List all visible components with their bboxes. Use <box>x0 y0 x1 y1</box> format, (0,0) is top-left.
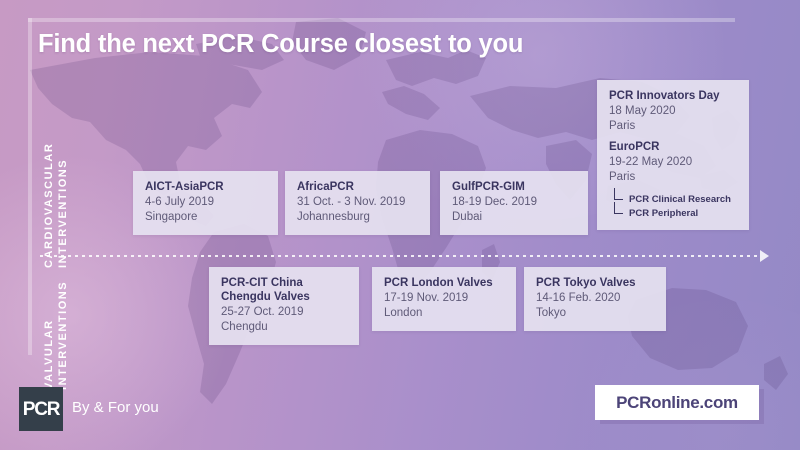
event-city: Johannesburg <box>297 210 418 225</box>
event-name: PCR London Valves <box>384 276 504 290</box>
category-label-line2: INTERVENTIONS <box>56 143 70 268</box>
event-card-paris-group[interactable]: PCR Innovators Day 18 May 2020 Paris Eur… <box>597 80 749 230</box>
event-city: Paris <box>609 170 737 185</box>
frame-left-border <box>28 18 32 355</box>
event-city: Dubai <box>452 210 576 225</box>
event-city: Tokyo <box>536 306 654 321</box>
event-card-pcr-cit-china-chengdu-valves[interactable]: PCR-CIT China Chengdu Valves 25-27 Oct. … <box>209 267 359 345</box>
event-name: GulfPCR-GIM <box>452 180 576 194</box>
event-city: Singapore <box>145 210 266 225</box>
category-label-line1: CARDIOVASCULAR <box>43 143 55 268</box>
event-name-line2: Chengdu Valves <box>221 290 347 304</box>
poster-canvas: Find the next PCR Course closest to you … <box>0 0 800 450</box>
axis-divider-dotted-line <box>40 255 760 257</box>
url-badge[interactable]: PCRonline.com <box>595 385 759 420</box>
event-card-africapcr[interactable]: AfricaPCR 31 Oct. - 3 Nov. 2019 Johannes… <box>285 171 430 235</box>
event-name: EuroPCR <box>609 140 737 154</box>
event-name: AICT-AsiaPCR <box>145 180 266 194</box>
category-label-line1: VALVULAR <box>43 319 55 390</box>
event-city: London <box>384 306 504 321</box>
event-date: 31 Oct. - 3 Nov. 2019 <box>297 195 418 210</box>
event-date: 25-27 Oct. 2019 <box>221 305 347 320</box>
event-name: AfricaPCR <box>297 180 418 194</box>
event-subitem-list: PCR Clinical Research PCR Peripheral <box>609 193 737 220</box>
event-date: 19-22 May 2020 <box>609 155 737 170</box>
event-card-pcr-tokyo-valves[interactable]: PCR Tokyo Valves 14-16 Feb. 2020 Tokyo <box>524 267 666 331</box>
event-name-line1: PCR-CIT China <box>221 276 347 290</box>
event-date: 18-19 Dec. 2019 <box>452 195 576 210</box>
event-card-gulfpcr-gim[interactable]: GulfPCR-GIM 18-19 Dec. 2019 Dubai <box>440 171 588 235</box>
category-label-valvular: VALVULAR INTERVENTIONS <box>42 281 70 390</box>
event-date: 14-16 Feb. 2020 <box>536 291 654 306</box>
event-card-pcr-london-valves[interactable]: PCR London Valves 17-19 Nov. 2019 London <box>372 267 516 331</box>
event-date: 4-6 July 2019 <box>145 195 266 210</box>
event-city: Paris <box>609 119 737 134</box>
event-name: PCR Tokyo Valves <box>536 276 654 290</box>
event-card-aict-asiapcr[interactable]: AICT-AsiaPCR 4-6 July 2019 Singapore <box>133 171 278 235</box>
event-name: PCR Innovators Day <box>609 89 737 103</box>
category-label-cardiovascular: CARDIOVASCULAR INTERVENTIONS <box>42 143 70 268</box>
event-subitem[interactable]: PCR Clinical Research <box>614 193 737 207</box>
category-label-line2: INTERVENTIONS <box>56 281 70 390</box>
url-text: PCRonline.com <box>616 393 738 413</box>
axis-arrow-icon <box>760 250 769 262</box>
pcr-logo-text: PCR <box>23 400 60 419</box>
event-date: 18 May 2020 <box>609 104 737 119</box>
tagline: By & For you <box>72 398 159 418</box>
event-date: 17-19 Nov. 2019 <box>384 291 504 306</box>
frame-top-border <box>28 18 735 22</box>
page-title: Find the next PCR Course closest to you <box>38 30 523 59</box>
event-subitem[interactable]: PCR Peripheral <box>614 207 737 221</box>
event-city: Chengdu <box>221 320 347 335</box>
pcr-logo: PCR <box>19 387 63 431</box>
